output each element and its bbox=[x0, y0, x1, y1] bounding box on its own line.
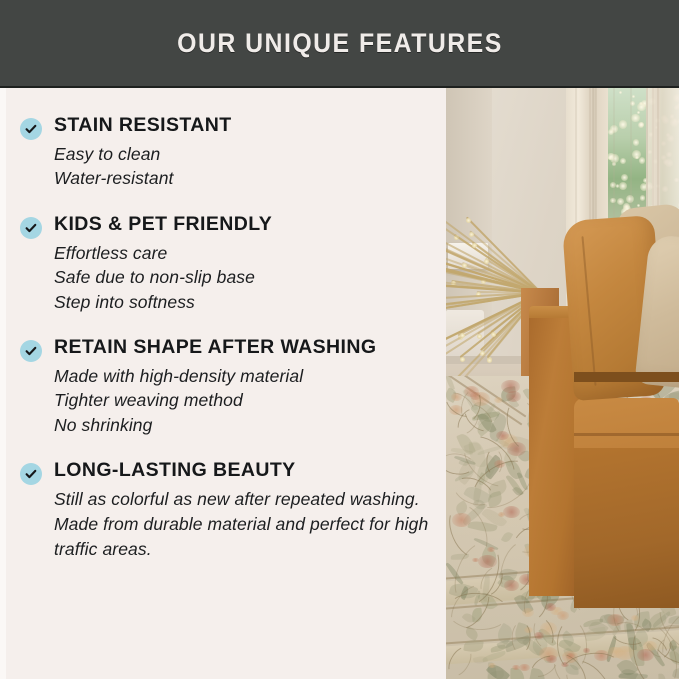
feature-title: LONG-LASTING BEAUTY bbox=[54, 459, 436, 483]
feature-paragraph: Still as colorful as new after repeated … bbox=[54, 487, 436, 562]
check-circle-icon bbox=[20, 463, 42, 485]
feature-item-stain-resistant: STAIN RESISTANT Easy to clean Water-resi… bbox=[20, 114, 436, 191]
feature-item-kids-pet-friendly: KIDS & PET FRIENDLY Effortless care Safe… bbox=[20, 213, 436, 314]
feature-line: Made with high-density material bbox=[54, 364, 436, 389]
feature-item-retain-shape: RETAIN SHAPE AFTER WASHING Made with hig… bbox=[20, 336, 436, 437]
check-circle-icon bbox=[20, 217, 42, 239]
feature-item-long-lasting-beauty: LONG-LASTING BEAUTY Still as colorful as… bbox=[20, 459, 436, 561]
feature-infographic: OUR UNIQUE FEATURES STAIN RESISTANT Easy… bbox=[0, 0, 679, 679]
feature-line: Effortless care bbox=[54, 241, 436, 266]
feature-title: RETAIN SHAPE AFTER WASHING bbox=[54, 336, 436, 360]
feature-line: Water-resistant bbox=[54, 166, 436, 191]
feature-line: Safe due to non-slip base bbox=[54, 265, 436, 290]
check-circle-icon bbox=[20, 118, 42, 140]
check-circle-icon bbox=[20, 340, 42, 362]
sofa-foot bbox=[574, 372, 679, 382]
feature-title: KIDS & PET FRIENDLY bbox=[54, 213, 436, 237]
feature-line: Tighter weaving method bbox=[54, 388, 436, 413]
header-banner: OUR UNIQUE FEATURES bbox=[0, 0, 679, 88]
living-room-rug-photo bbox=[446, 88, 679, 679]
page-title: OUR UNIQUE FEATURES bbox=[177, 28, 503, 59]
feature-title: STAIN RESISTANT bbox=[54, 114, 436, 138]
feature-line: Step into softness bbox=[54, 290, 436, 315]
features-panel: STAIN RESISTANT Easy to clean Water-resi… bbox=[0, 88, 446, 679]
sofa-base bbox=[574, 448, 679, 608]
feature-line: No shrinking bbox=[54, 413, 436, 438]
feature-line: Easy to clean bbox=[54, 142, 436, 167]
sofa-seat-seam bbox=[574, 433, 679, 436]
